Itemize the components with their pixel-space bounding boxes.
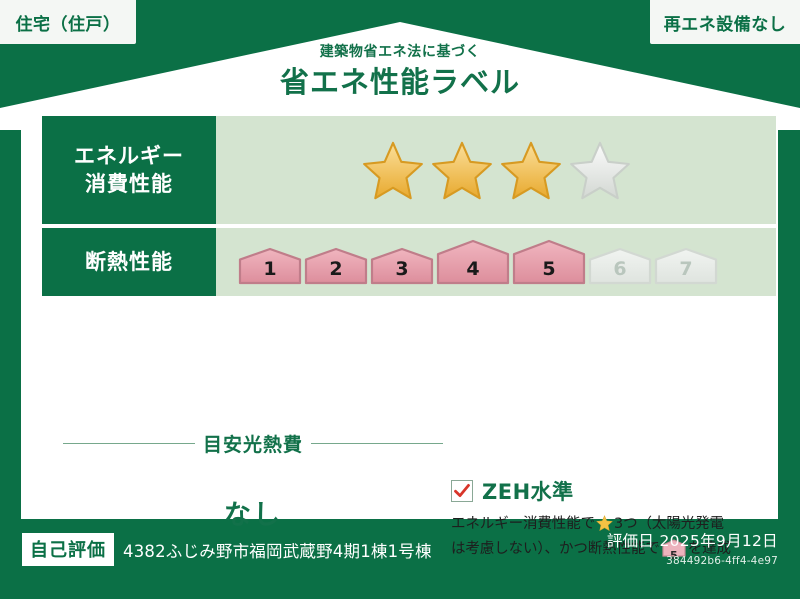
badge-number: 6 bbox=[588, 258, 652, 280]
energy-label-line-2: 消費性能 bbox=[85, 170, 173, 198]
heading-rule-right bbox=[311, 443, 443, 444]
badge-number: 5 bbox=[512, 258, 586, 280]
star-rating-group bbox=[362, 140, 631, 200]
energy-performance-label: 住宅（住戸） 再エネ設備なし 建築物省エネ法に基づく 省エネ性能ラベル エネルギ… bbox=[0, 0, 800, 599]
insulation-badge-6: 6 bbox=[588, 247, 652, 285]
evaluation-id: 384492b6-4ff4-4e97 bbox=[607, 555, 778, 567]
building-type-tag: 住宅（住戸） bbox=[0, 0, 136, 44]
zeh-title: ZEH水準 bbox=[482, 476, 574, 506]
insulation-performance-row: 断熱性能 1234567 bbox=[42, 228, 776, 296]
badge-number: 2 bbox=[304, 258, 368, 280]
label-body-panel: エネルギー 消費性能 断熱性能 1234567 目安光熱費 なし bbox=[21, 108, 778, 519]
energy-label-line-1: エネルギー bbox=[74, 142, 184, 170]
label-title: 省エネ性能ラベル bbox=[0, 64, 800, 102]
insulation-badge-3: 3 bbox=[370, 247, 434, 285]
insulation-label-text: 断熱性能 bbox=[85, 248, 173, 276]
insulation-badge-5: 5 bbox=[512, 239, 586, 285]
label-footer: 自己評価 4382ふじみ野市福岡武蔵野4期1棟1号棟 評価日 2025年9月12… bbox=[0, 519, 800, 599]
energy-performance-row: エネルギー 消費性能 bbox=[42, 116, 776, 224]
heading-rule-left bbox=[63, 443, 195, 444]
insulation-performance-label-box: 断熱性能 bbox=[42, 228, 216, 296]
star-icon-empty bbox=[569, 140, 631, 200]
insulation-badge-4: 4 bbox=[436, 239, 510, 285]
utility-cost-heading-text: 目安光熱費 bbox=[203, 430, 303, 457]
check-icon bbox=[453, 482, 471, 500]
self-evaluation-badge: 自己評価 bbox=[22, 533, 114, 566]
badge-number: 7 bbox=[654, 258, 718, 280]
insulation-badge-1: 1 bbox=[238, 247, 302, 285]
energy-star-rating bbox=[216, 116, 776, 224]
badge-number: 4 bbox=[436, 258, 510, 280]
insulation-level-scale: 1234567 bbox=[216, 228, 776, 296]
insulation-badge-group: 1234567 bbox=[238, 239, 718, 285]
renewable-equipment-tag: 再エネ設備なし bbox=[650, 0, 800, 44]
evaluation-date: 評価日 2025年9月12日 bbox=[607, 529, 778, 551]
zeh-checkbox[interactable] bbox=[451, 480, 473, 502]
star-icon-filled bbox=[431, 140, 493, 200]
utility-cost-heading: 目安光熱費 bbox=[63, 430, 443, 457]
footer-right-group: 評価日 2025年9月12日 384492b6-4ff4-4e97 bbox=[607, 529, 778, 567]
insulation-badge-2: 2 bbox=[304, 247, 368, 285]
zeh-header: ZEH水準 bbox=[451, 476, 791, 506]
badge-number: 1 bbox=[238, 258, 302, 280]
insulation-badge-7: 7 bbox=[654, 247, 718, 285]
footer-left-group: 自己評価 4382ふじみ野市福岡武蔵野4期1棟1号棟 bbox=[22, 533, 432, 566]
star-icon-filled bbox=[500, 140, 562, 200]
label-subtitle: 建築物省エネ法に基づく bbox=[0, 44, 800, 61]
energy-performance-label-box: エネルギー 消費性能 bbox=[42, 116, 216, 224]
star-icon-filled bbox=[362, 140, 424, 200]
property-name: 4382ふじみ野市福岡武蔵野4期1棟1号棟 bbox=[123, 538, 432, 562]
badge-number: 3 bbox=[370, 258, 434, 280]
label-title-block: 建築物省エネ法に基づく 省エネ性能ラベル bbox=[0, 44, 800, 101]
